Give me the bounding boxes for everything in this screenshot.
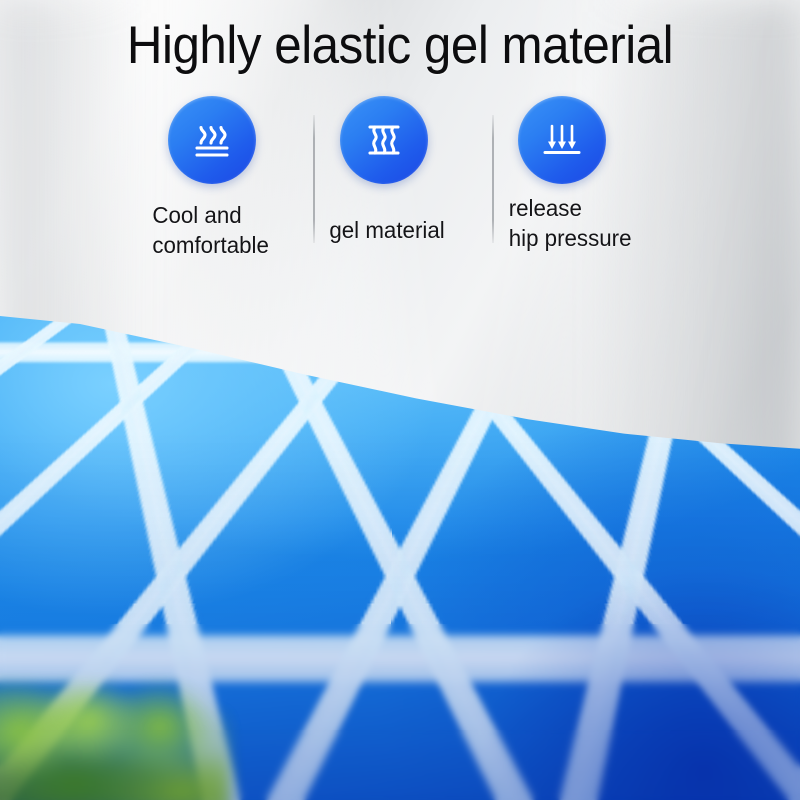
product-marketing-banner: Highly elastic gel material Cool and com… [0,0,800,800]
feature-caption: release hip pressure [509,193,684,253]
feature-caption: gel material [328,215,483,245]
feature-list: Cool and comfortable gel material [0,96,800,286]
feature-item-cool-and-comfortable: Cool and comfortable [148,96,308,260]
feature-caption: Cool and comfortable [150,200,305,260]
feature-item-release-hip-pressure: release hip pressure [506,96,686,253]
foliage-leaves [0,682,230,800]
downward-pressure-arrows-icon [518,96,606,184]
feature-item-gel-material: gel material [326,96,486,245]
feature-divider [492,115,494,243]
feature-divider [313,115,315,243]
heat-waves-icon [168,96,256,184]
gel-wave-icon [340,96,428,184]
page-title: Highly elastic gel material [28,16,772,76]
